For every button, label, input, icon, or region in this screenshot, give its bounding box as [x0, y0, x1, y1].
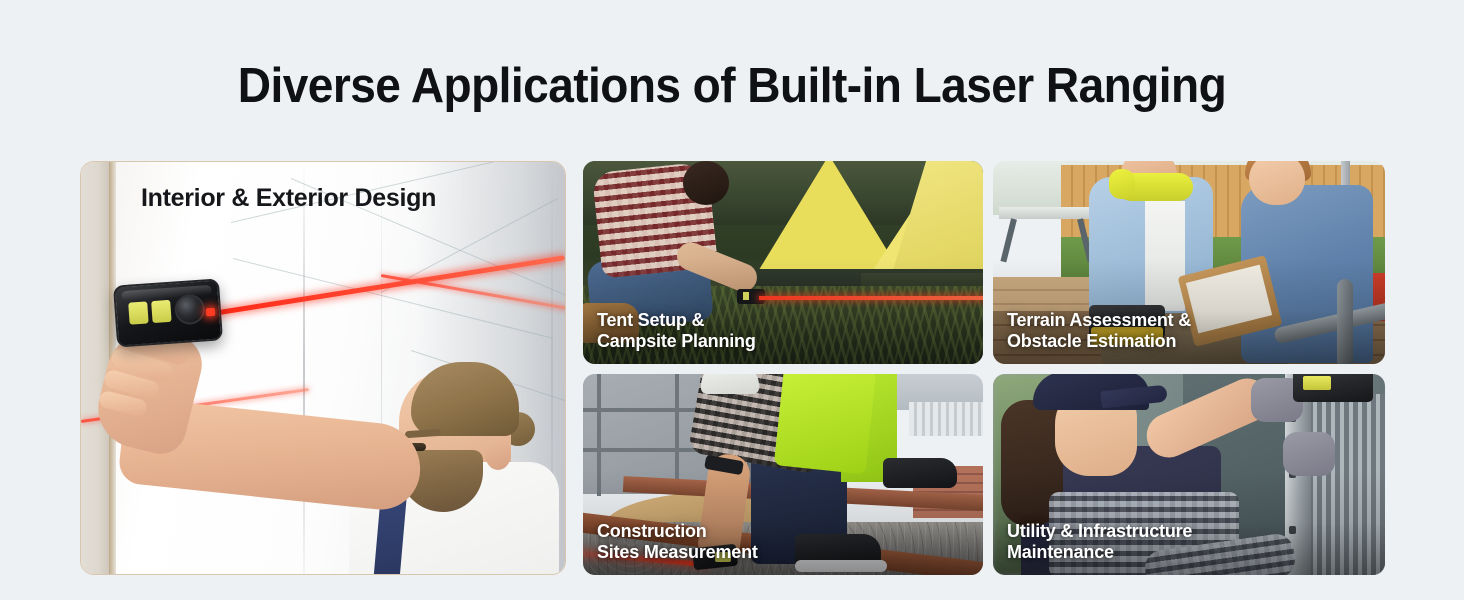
card-caption-terrain-assessment: Terrain Assessment & Obstacle Estimation	[1007, 310, 1191, 352]
worker-tshirt	[1145, 201, 1185, 311]
card-utility-maintenance[interactable]: Utility & Infrastructure Maintenance	[993, 374, 1385, 575]
card-caption-tent-setup: Tent Setup & Campsite Planning	[597, 310, 756, 352]
device-yellow-pad	[128, 301, 148, 324]
camper-head	[683, 161, 729, 205]
laser-emitter-icon	[206, 308, 216, 317]
wall-edge-left	[81, 162, 109, 574]
card-tent-setup[interactable]: Tent Setup & Campsite Planning	[583, 161, 983, 364]
post-bolt	[1289, 526, 1296, 534]
card-caption-construction-sites: Construction Sites Measurement	[597, 521, 758, 563]
device-yellow-pad	[1303, 376, 1331, 390]
ear	[485, 438, 511, 470]
scaffold-pole	[675, 374, 679, 496]
applications-grid: Interior & Exterior Design Tent Setup & …	[0, 0, 1464, 600]
laser-beam	[759, 296, 983, 300]
worker-shoe-sole	[795, 560, 887, 572]
work-glove	[1283, 432, 1335, 476]
card-interior-exterior-design[interactable]: Interior & Exterior Design	[80, 161, 566, 575]
card-terrain-assessment[interactable]: Terrain Assessment & Obstacle Estimation	[993, 161, 1385, 364]
device-yellow-pad	[743, 292, 749, 300]
card-construction-sites[interactable]: Construction Sites Measurement	[583, 374, 983, 575]
sawhorse-table	[999, 207, 1095, 219]
hi-vis-vest	[774, 374, 876, 475]
hero-scene	[81, 162, 565, 574]
device-yellow-pad	[151, 300, 171, 323]
laser-phone-device	[113, 278, 223, 347]
card-label-interior-exterior-design: Interior & Exterior Design	[141, 184, 436, 213]
sawhorse-leg	[1000, 218, 1016, 262]
metal-railing-post	[1337, 279, 1353, 364]
second-worker-shoe	[883, 458, 957, 488]
hard-hat	[701, 374, 759, 394]
metal-roof	[909, 402, 983, 436]
scaffold-pole	[597, 374, 601, 496]
camera-lens-icon	[174, 293, 206, 325]
card-caption-utility-maintenance: Utility & Infrastructure Maintenance	[1007, 521, 1192, 563]
ear-protection-icon	[1109, 169, 1135, 199]
wall-seam	[303, 162, 305, 574]
